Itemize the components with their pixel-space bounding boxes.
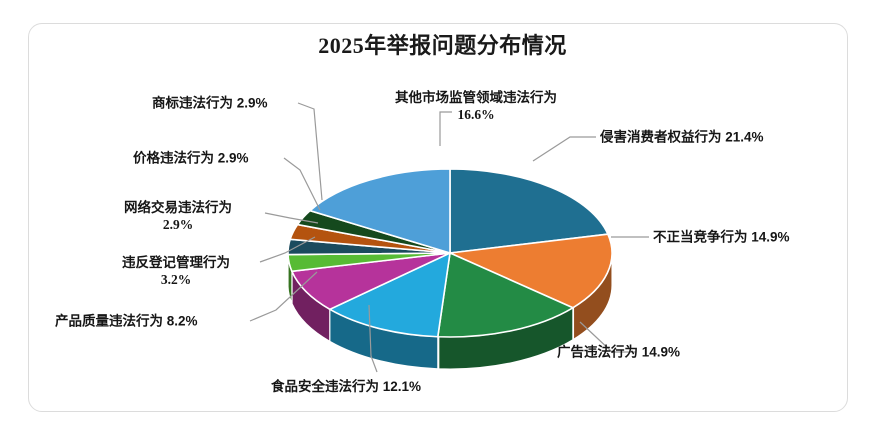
label-registration: 违反登记管理行为 3.2% — [96, 254, 256, 289]
label-consumer-rights: 侵害消费者权益行为 21.4% — [600, 128, 764, 145]
label-online-trade-text: 网络交易违法行为 — [124, 200, 232, 215]
label-trademark-text: 商标违法行为 2.9% — [152, 95, 268, 110]
label-unfair-comp-text: 不正当竞争行为 14.9% — [653, 229, 790, 244]
label-advertising: 广告违法行为 14.9% — [557, 343, 680, 360]
label-advertising-text: 广告违法行为 14.9% — [557, 344, 680, 359]
label-consumer-rights-text: 侵害消费者权益行为 21.4% — [600, 129, 764, 144]
label-unfair-comp: 不正当竞争行为 14.9% — [653, 228, 790, 245]
label-registration-value: 3.2% — [161, 272, 191, 287]
leader-trademark — [298, 103, 322, 200]
label-product-quality: 产品质量违法行为 8.2% — [55, 312, 198, 329]
label-online-trade-value: 2.9% — [163, 217, 193, 232]
leader-consumer-rights — [533, 137, 596, 161]
label-registration-text: 违反登记管理行为 — [122, 255, 230, 270]
label-price-text: 价格违法行为 2.9% — [133, 150, 249, 165]
label-other-market-value: 16.6% — [457, 107, 494, 122]
label-trademark: 商标违法行为 2.9% — [152, 94, 268, 111]
label-online-trade: 网络交易违法行为 2.9% — [98, 199, 258, 234]
leader-price — [284, 158, 320, 210]
label-food-safety-text: 食品安全违法行为 12.1% — [271, 379, 421, 394]
label-product-quality-text: 产品质量违法行为 8.2% — [55, 313, 198, 328]
chart-page: 2025年举报问题分布情况 其他市场监管领域违法行为 16.6% 侵害消费者权益… — [0, 0, 885, 447]
label-price: 价格违法行为 2.9% — [133, 149, 249, 166]
label-other-market: 其他市场监管领域违法行为 16.6% — [376, 89, 576, 124]
label-food-safety: 食品安全违法行为 12.1% — [271, 378, 421, 395]
label-other-market-text: 其他市场监管领域违法行为 — [395, 90, 557, 105]
